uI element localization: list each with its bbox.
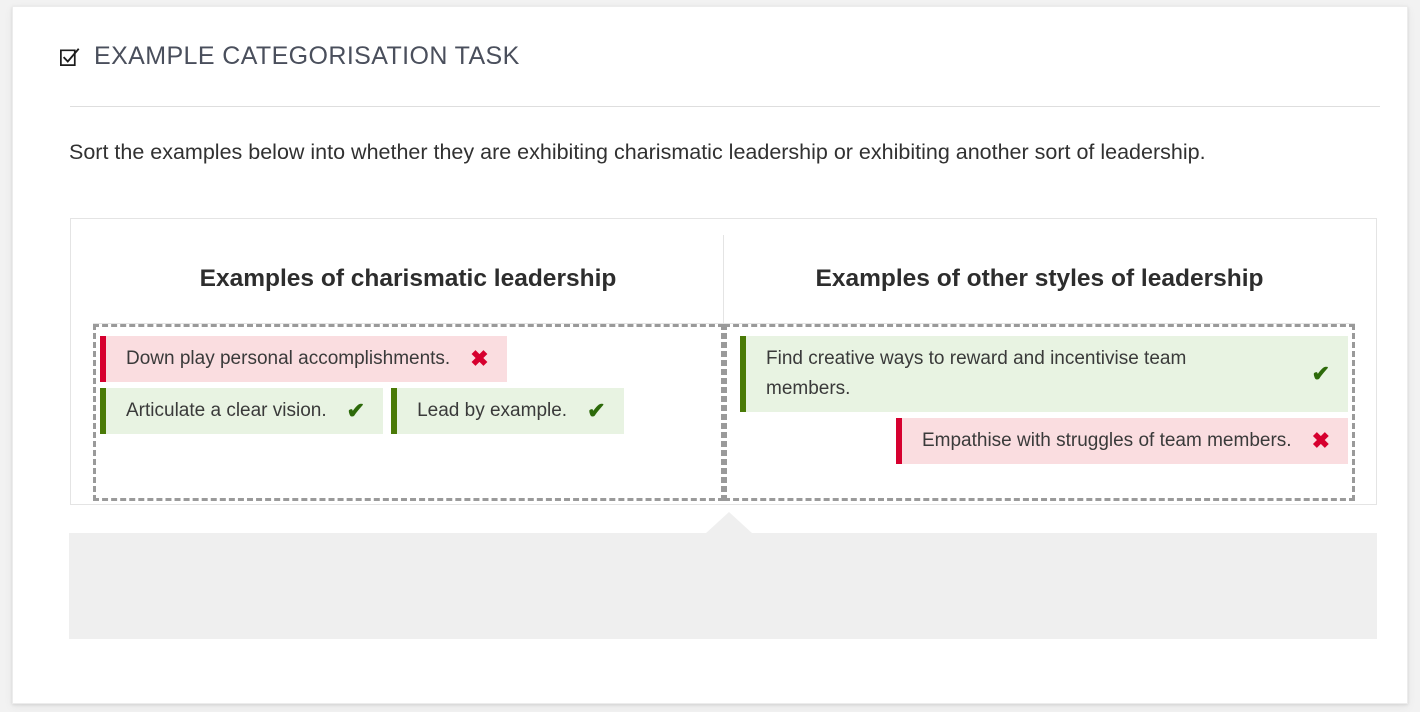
feedback-pointer-arrow bbox=[705, 512, 753, 534]
answer-chip[interactable]: Down play personal accomplishments. ✖ bbox=[100, 336, 507, 382]
column-header-label: Examples of other styles of leadership bbox=[816, 265, 1264, 293]
page-background: EXAMPLE CATEGORISATION TASK Sort the exa… bbox=[0, 0, 1420, 712]
answer-chip[interactable]: Empathise with struggles of team members… bbox=[896, 418, 1348, 464]
check-icon: ✔ bbox=[347, 400, 365, 422]
column-headers: Examples of charismatic leadership Examp… bbox=[93, 235, 1355, 324]
answer-chip[interactable]: Lead by example. ✔ bbox=[391, 388, 623, 434]
task-header: EXAMPLE CATEGORISATION TASK bbox=[58, 42, 520, 71]
page-title: EXAMPLE CATEGORISATION TASK bbox=[94, 42, 520, 71]
header-divider bbox=[70, 106, 1380, 107]
sorting-board: Examples of charismatic leadership Examp… bbox=[70, 218, 1377, 505]
dropzone-other-styles[interactable]: Find creative ways to reward and incenti… bbox=[724, 324, 1355, 501]
column-header-other: Examples of other styles of leadership bbox=[724, 235, 1355, 324]
answer-chip[interactable]: Articulate a clear vision. ✔ bbox=[100, 388, 383, 434]
dropzone-charismatic[interactable]: Down play personal accomplishments. ✖ Ar… bbox=[93, 324, 724, 501]
answer-chip-text: Articulate a clear vision. bbox=[126, 396, 327, 426]
feedback-panel bbox=[69, 533, 1377, 639]
answer-chip-text: Lead by example. bbox=[417, 396, 567, 426]
column-header-label: Examples of charismatic leadership bbox=[200, 265, 617, 293]
drop-zones: Down play personal accomplishments. ✖ Ar… bbox=[93, 324, 1355, 501]
column-header-charismatic: Examples of charismatic leadership bbox=[93, 235, 724, 324]
check-icon: ✔ bbox=[1312, 363, 1330, 385]
answer-chip-text: Empathise with struggles of team members… bbox=[922, 426, 1292, 456]
task-card: EXAMPLE CATEGORISATION TASK Sort the exa… bbox=[12, 6, 1408, 704]
cross-icon: ✖ bbox=[470, 348, 488, 370]
answer-chip-text: Down play personal accomplishments. bbox=[126, 344, 450, 374]
task-instruction: Sort the examples below into whether the… bbox=[69, 134, 1369, 171]
answer-chip[interactable]: Find creative ways to reward and incenti… bbox=[740, 336, 1348, 412]
task-checkbox-icon bbox=[58, 46, 81, 69]
cross-icon: ✖ bbox=[1312, 430, 1330, 452]
check-icon: ✔ bbox=[587, 400, 605, 422]
answer-chip-text: Find creative ways to reward and incenti… bbox=[766, 344, 1256, 404]
